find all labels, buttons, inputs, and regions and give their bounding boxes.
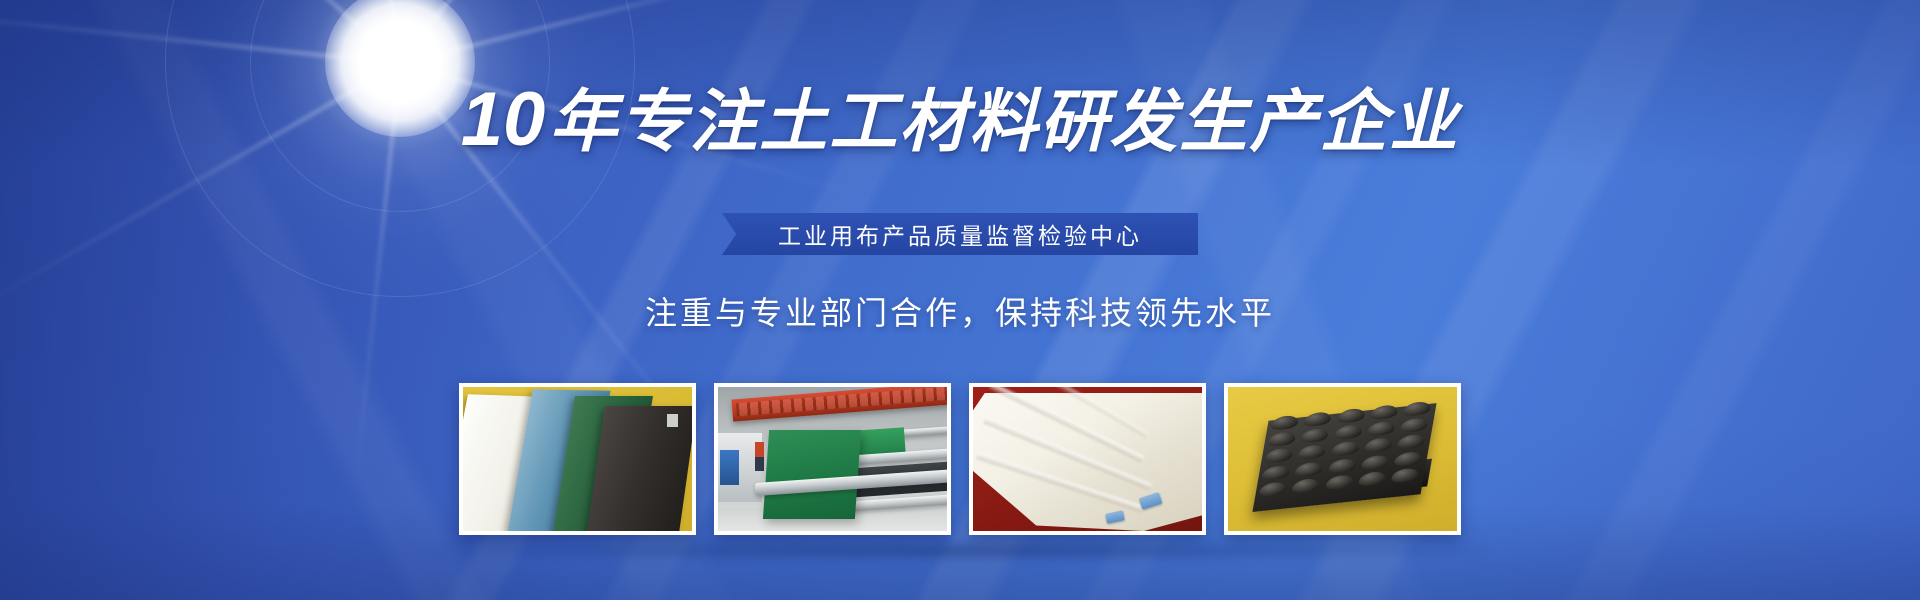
photo-image-production-line (718, 387, 947, 531)
banner-headline: 10年专注土工材料研发生产企业 (0, 82, 1920, 158)
dimple (1300, 428, 1329, 444)
dimple (1336, 408, 1365, 424)
photo-image-geomembrane-sheets (463, 387, 692, 531)
photo-image-geotextile-fabric (973, 387, 1202, 531)
dimple (1267, 431, 1296, 447)
dimple (1270, 415, 1299, 431)
badge-container: 工业用布产品质量监督检验中心 (0, 213, 1920, 255)
machine-panel (720, 450, 738, 485)
photo-image-drainage-board (1228, 387, 1457, 531)
dimple (1397, 434, 1426, 450)
product-photo-production-line[interactable] (714, 383, 951, 535)
dimple (1360, 454, 1389, 470)
dimple (1394, 450, 1423, 466)
product-photo-geotextile-fabric[interactable] (969, 383, 1206, 535)
product-photo-geomembrane-sheets[interactable] (459, 383, 696, 535)
headline-text: 年专注土工材料研发生产企业 (549, 84, 1459, 160)
photo-strip-shadow (430, 540, 1490, 562)
product-photo-drainage-board[interactable] (1224, 383, 1461, 535)
dimple (1297, 444, 1326, 460)
dimple (1294, 461, 1323, 477)
dimple (1303, 411, 1332, 427)
dimple (1264, 448, 1293, 464)
certification-badge-label: 工业用布产品质量监督检验中心 (778, 217, 1142, 251)
banner-tagline: 注重与专业部门合作，保持科技领先水平 (0, 288, 1920, 334)
worker-figure (755, 442, 764, 471)
dimple (1330, 441, 1359, 457)
dimple (1402, 401, 1431, 417)
dimple (1369, 404, 1398, 420)
dimple (1399, 417, 1428, 433)
headline-year-number: 10 (461, 77, 550, 162)
dimple (1327, 457, 1356, 473)
promo-banner: 10年专注土工材料研发生产企业 工业用布产品质量监督检验中心 注重与专业部门合作… (0, 0, 1920, 600)
dimple (1366, 421, 1395, 437)
red-gantry-beam (731, 387, 947, 421)
sheet-label-tab (667, 414, 678, 427)
dimple (1363, 437, 1392, 453)
product-photo-strip (0, 383, 1920, 535)
dimple (1261, 464, 1290, 480)
certification-badge: 工业用布产品质量监督检验中心 (722, 213, 1198, 255)
dimple (1333, 424, 1362, 440)
green-membrane-sheet (763, 430, 861, 519)
